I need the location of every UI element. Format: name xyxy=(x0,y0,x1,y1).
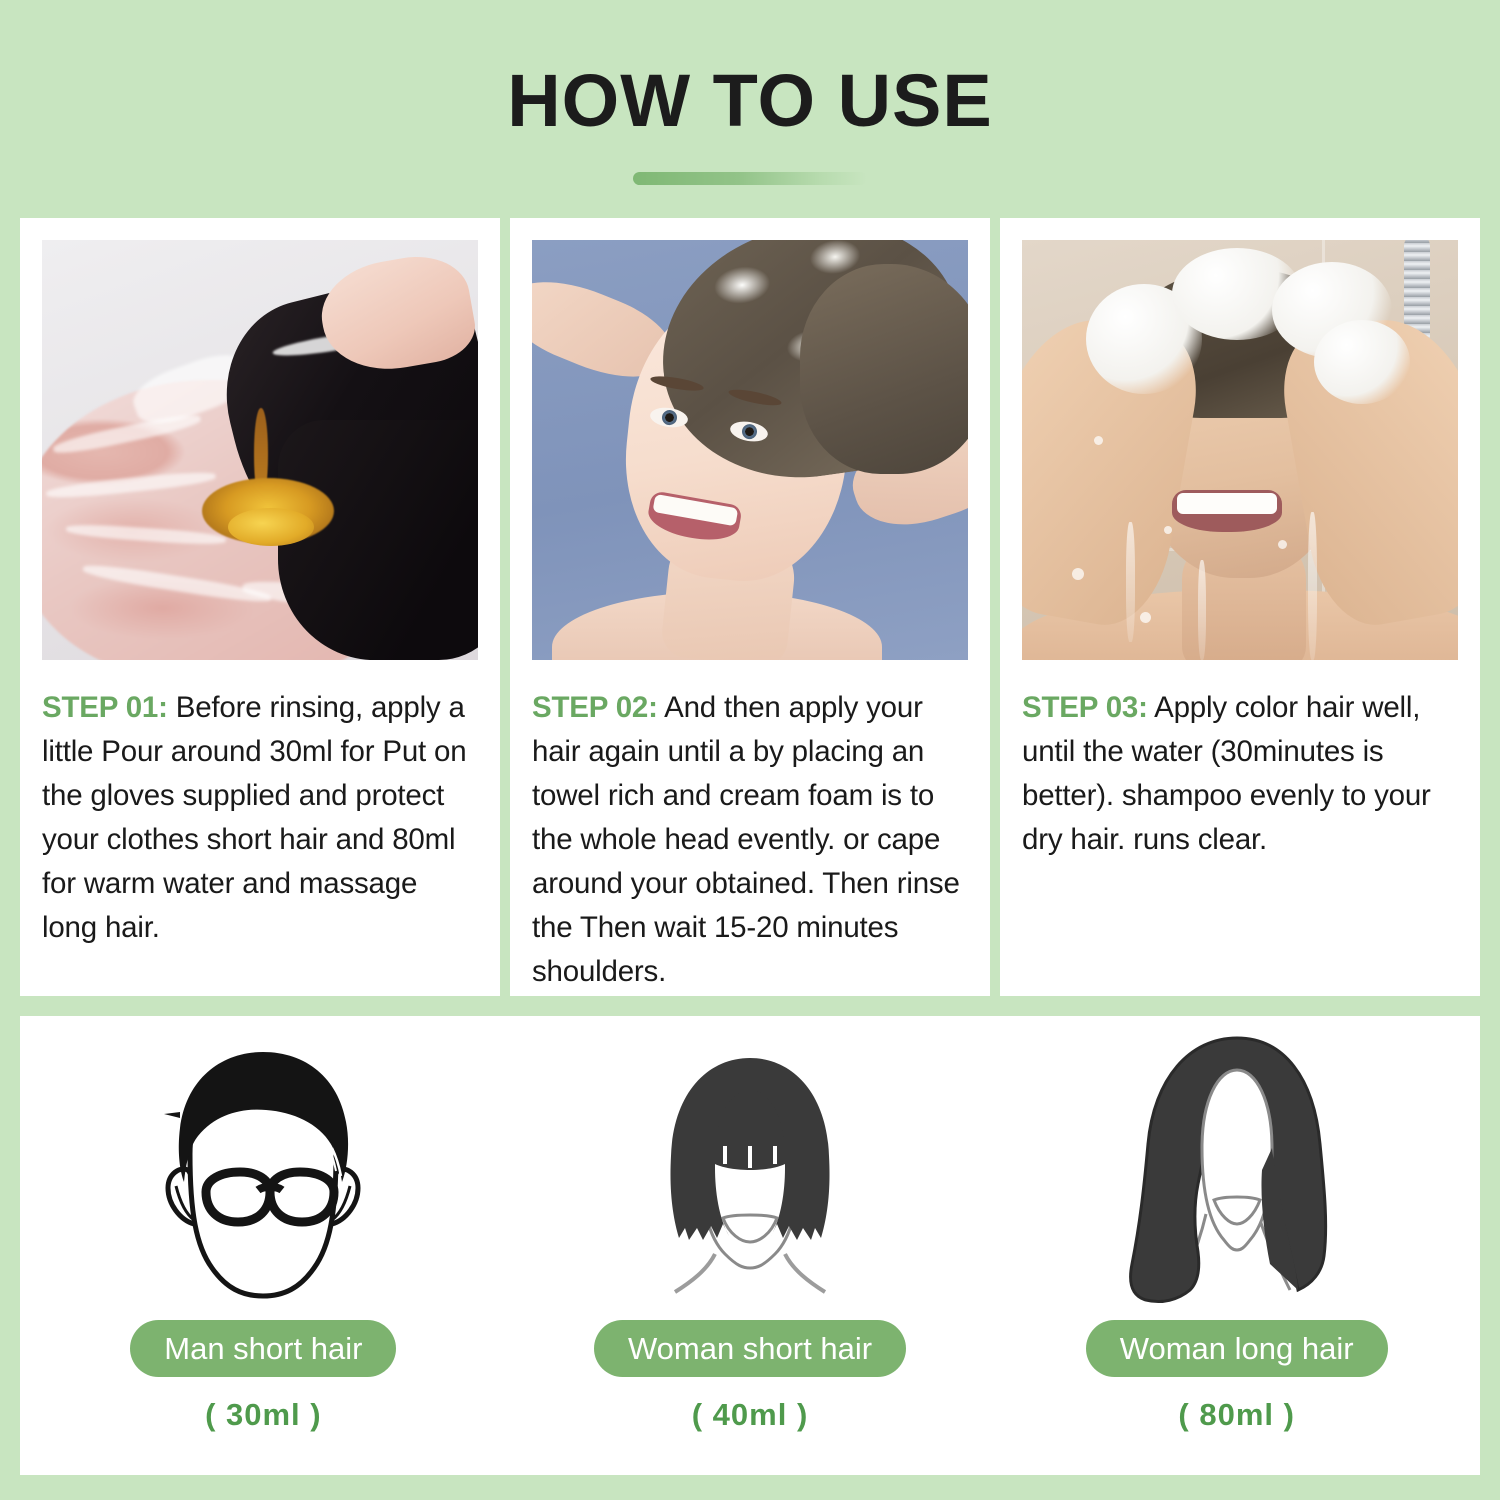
woman-lathering-shampoo-photo xyxy=(532,240,968,660)
hair-type-woman-long: Woman long hair ( 80ml ) xyxy=(993,1016,1480,1475)
hair-type-volume: ( 30ml ) xyxy=(205,1397,322,1433)
pouring-shampoo-onto-gloved-hand-photo xyxy=(42,240,478,660)
water-stream xyxy=(1126,522,1135,642)
step-card-02: STEP 02: And then apply your hair again … xyxy=(510,218,990,996)
water-droplet xyxy=(1094,436,1103,445)
step-card-01: STEP 01: Before rinsing, apply a little … xyxy=(20,218,500,996)
title-underline-bar xyxy=(633,172,867,185)
figure-wrap xyxy=(611,1038,889,1310)
water-droplet xyxy=(1278,540,1287,549)
hair-type-woman-short: Woman short hair ( 40ml ) xyxy=(507,1016,994,1475)
water-droplet xyxy=(1072,568,1084,580)
hair-type-man-short: Man short hair ( 30ml ) xyxy=(20,1016,507,1475)
figure-wrap xyxy=(1098,1038,1376,1310)
woman-rinsing-hair-in-shower-photo xyxy=(1022,240,1458,660)
step-card-03: STEP 03: Apply color hair well, until th… xyxy=(1000,218,1480,996)
liquid-pool-highlight xyxy=(228,508,314,546)
shampoo-bottle-body xyxy=(278,420,478,660)
step-body-text: And then apply your hair again until a b… xyxy=(532,691,960,988)
shampoo-foam xyxy=(1314,320,1410,404)
step-label: STEP 01: xyxy=(42,691,168,724)
header: HOW TO USE xyxy=(0,0,1500,218)
figure-wrap xyxy=(124,1038,402,1310)
water-droplet xyxy=(1140,612,1151,623)
page-title: HOW TO USE xyxy=(507,64,993,138)
step-label: STEP 03: xyxy=(1022,691,1148,724)
step-label: STEP 02: xyxy=(532,691,658,724)
hair-type-label: Man short hair xyxy=(130,1320,396,1377)
step-description: STEP 01: Before rinsing, apply a little … xyxy=(42,686,478,950)
water-stream xyxy=(1198,560,1206,660)
teeth xyxy=(1177,493,1277,514)
steps-row: STEP 01: Before rinsing, apply a little … xyxy=(20,218,1480,996)
step-description: STEP 03: Apply color hair well, until th… xyxy=(1022,686,1458,862)
woman-short-hair-icon xyxy=(611,1042,889,1310)
step-description: STEP 02: And then apply your hair again … xyxy=(532,686,968,994)
hair-type-label: Woman short hair xyxy=(594,1320,906,1377)
water-stream xyxy=(1308,512,1317,660)
hair-type-volume: ( 80ml ) xyxy=(1178,1397,1295,1433)
woman-long-hair-icon xyxy=(1098,1028,1376,1310)
water-droplet xyxy=(1164,526,1172,534)
smiling-mouth xyxy=(1172,490,1282,532)
how-to-use-infographic: HOW TO USE STEP 01: xyxy=(0,0,1500,1500)
man-short-hair-icon xyxy=(124,1042,402,1310)
hair-type-volume: ( 40ml ) xyxy=(692,1397,809,1433)
step-body-text: Before rinsing, apply a little Pour arou… xyxy=(42,691,466,944)
hair-type-panel: Man short hair ( 30ml ) Woman short hair… xyxy=(20,1016,1480,1475)
hair-type-label: Woman long hair xyxy=(1086,1320,1388,1377)
hair-back xyxy=(800,264,968,474)
